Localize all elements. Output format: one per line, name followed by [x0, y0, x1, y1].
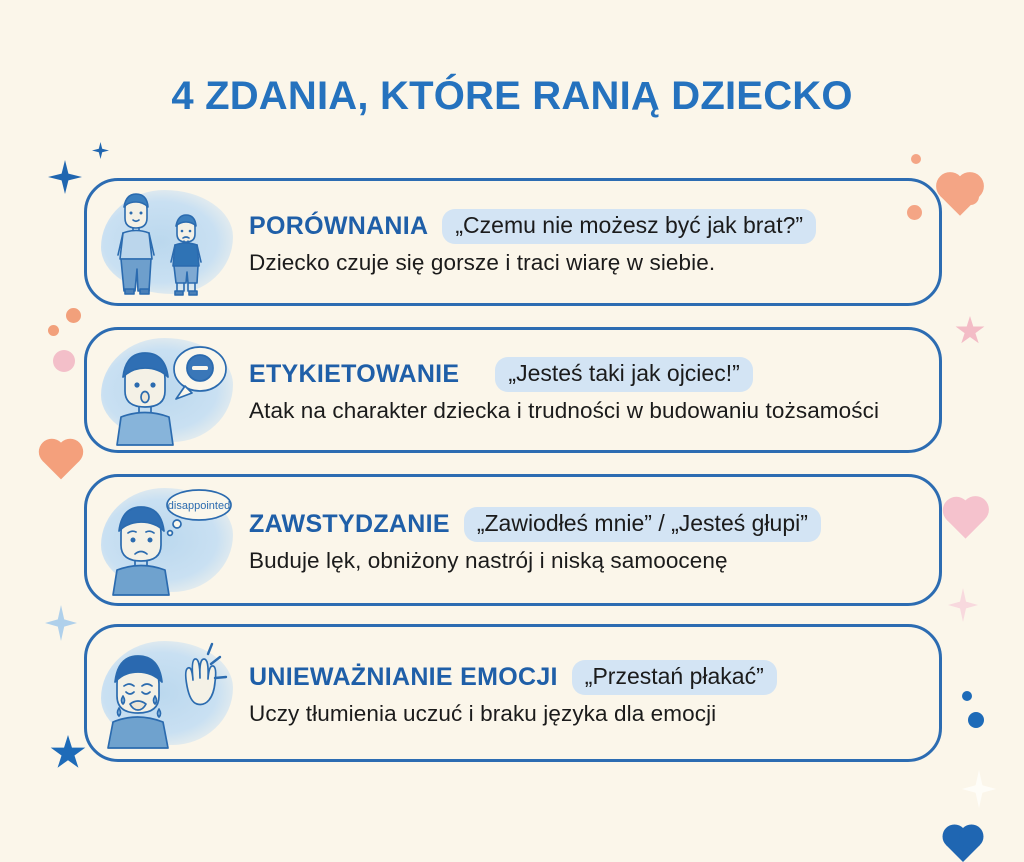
crying-boy-stop-hand-icon [95, 634, 243, 752]
sparkle-icon-pink-bottomright [948, 588, 978, 622]
card-illustration-boy-negative-bubble [95, 330, 243, 450]
star-icon-blue-bottomleft [50, 735, 86, 771]
card-etykietowanie: ETYKIETOWANIE „Jesteś taki jak ojciec!” … [84, 327, 942, 453]
dot-blue-bottomright-2 [968, 712, 984, 728]
card-illustration-crying-boy [95, 627, 243, 759]
dot-orange-left-2 [48, 325, 59, 336]
sparkle-icon-blue-bottomleft [45, 605, 77, 641]
card-quote: „Jesteś taki jak ojciec!” [495, 357, 752, 392]
card-category-label: UNIEWAŻNIANIE EMOCJI [249, 663, 558, 692]
card-header-row: UNIEWAŻNIANIE EMOCJI „Przestań płakać” [249, 660, 925, 695]
card-category-label: ZAWSTYDZANIE [249, 510, 450, 539]
dot-orange-right-1 [911, 154, 921, 164]
thought-bubble-text: disappointed [168, 500, 230, 512]
card-header-row: PORÓWNANIA „Czemu nie możesz być jak bra… [249, 209, 925, 244]
two-boys-comparison-icon [95, 183, 243, 301]
dot-blue-bottomright-1 [962, 691, 972, 701]
card-category-label: ETYKIETOWANIE [249, 360, 459, 389]
card-quote: „Czemu nie możesz być jak brat?” [442, 209, 816, 244]
card-description: Uczy tłumienia uczuć i braku języka dla … [249, 701, 925, 727]
card-description: Dziecko czuje się gorsze i traci wiarę w… [249, 250, 925, 276]
dot-orange-left-1 [66, 308, 81, 323]
card-body: ZAWSTYDZANIE „Zawiodłeś mnie” / „Jesteś … [243, 507, 939, 574]
card-illustration-two-boys [95, 181, 243, 303]
card-quote: „Zawiodłeś mnie” / „Jesteś głupi” [464, 507, 821, 542]
star-icon-pink-right [955, 316, 985, 346]
card-illustration-boy-disappointed: disappointed [95, 477, 243, 603]
star-icon-blue-small-topleft [92, 142, 109, 159]
star-icon-blue-topleft [48, 160, 82, 194]
dot-pink-left-1 [53, 350, 75, 372]
infographic-page: 4 ZDANIA, KTÓRE RANIĄ DZIECKO [0, 0, 1024, 825]
dot-orange-right-3 [962, 188, 979, 205]
card-header-row: ZAWSTYDZANIE „Zawiodłeś mnie” / „Jesteś … [249, 507, 925, 542]
card-category-label: PORÓWNANIA [249, 212, 428, 241]
card-body: PORÓWNANIA „Czemu nie możesz być jak bra… [243, 209, 939, 276]
heart-icon-blue-bottomright [946, 828, 980, 862]
boy-negative-speech-bubble-icon [95, 331, 243, 449]
boy-disappointed-thought-bubble-icon: disappointed [95, 481, 243, 599]
heart-icon-orange-left [43, 443, 80, 480]
card-quote: „Przestań płakać” [572, 660, 777, 695]
card-description: Buduje lęk, obniżony nastrój i niską sam… [249, 548, 925, 574]
card-description: Atak na charakter dziecka i trudności w … [249, 398, 925, 424]
card-body: UNIEWAŻNIANIE EMOCJI „Przestań płakać” U… [243, 660, 939, 727]
card-header-row: ETYKIETOWANIE „Jesteś taki jak ojciec!” [249, 357, 925, 392]
sparkle-icon-white-bottomright [962, 770, 996, 808]
card-porownania: PORÓWNANIA „Czemu nie możesz być jak bra… [84, 178, 942, 306]
heart-icon-orange-topright [940, 176, 980, 216]
heart-icon-pink-right [946, 500, 984, 538]
card-body: ETYKIETOWANIE „Jesteś taki jak ojciec!” … [243, 357, 939, 424]
page-title: 4 ZDANIA, KTÓRE RANIĄ DZIECKO [0, 74, 1024, 119]
card-zawstydzanie: disappointed ZAWSTYDZANIE „Zawiodłeś mni… [84, 474, 942, 606]
card-uniewaznianie-emocji: UNIEWAŻNIANIE EMOCJI „Przestań płakać” U… [84, 624, 942, 762]
